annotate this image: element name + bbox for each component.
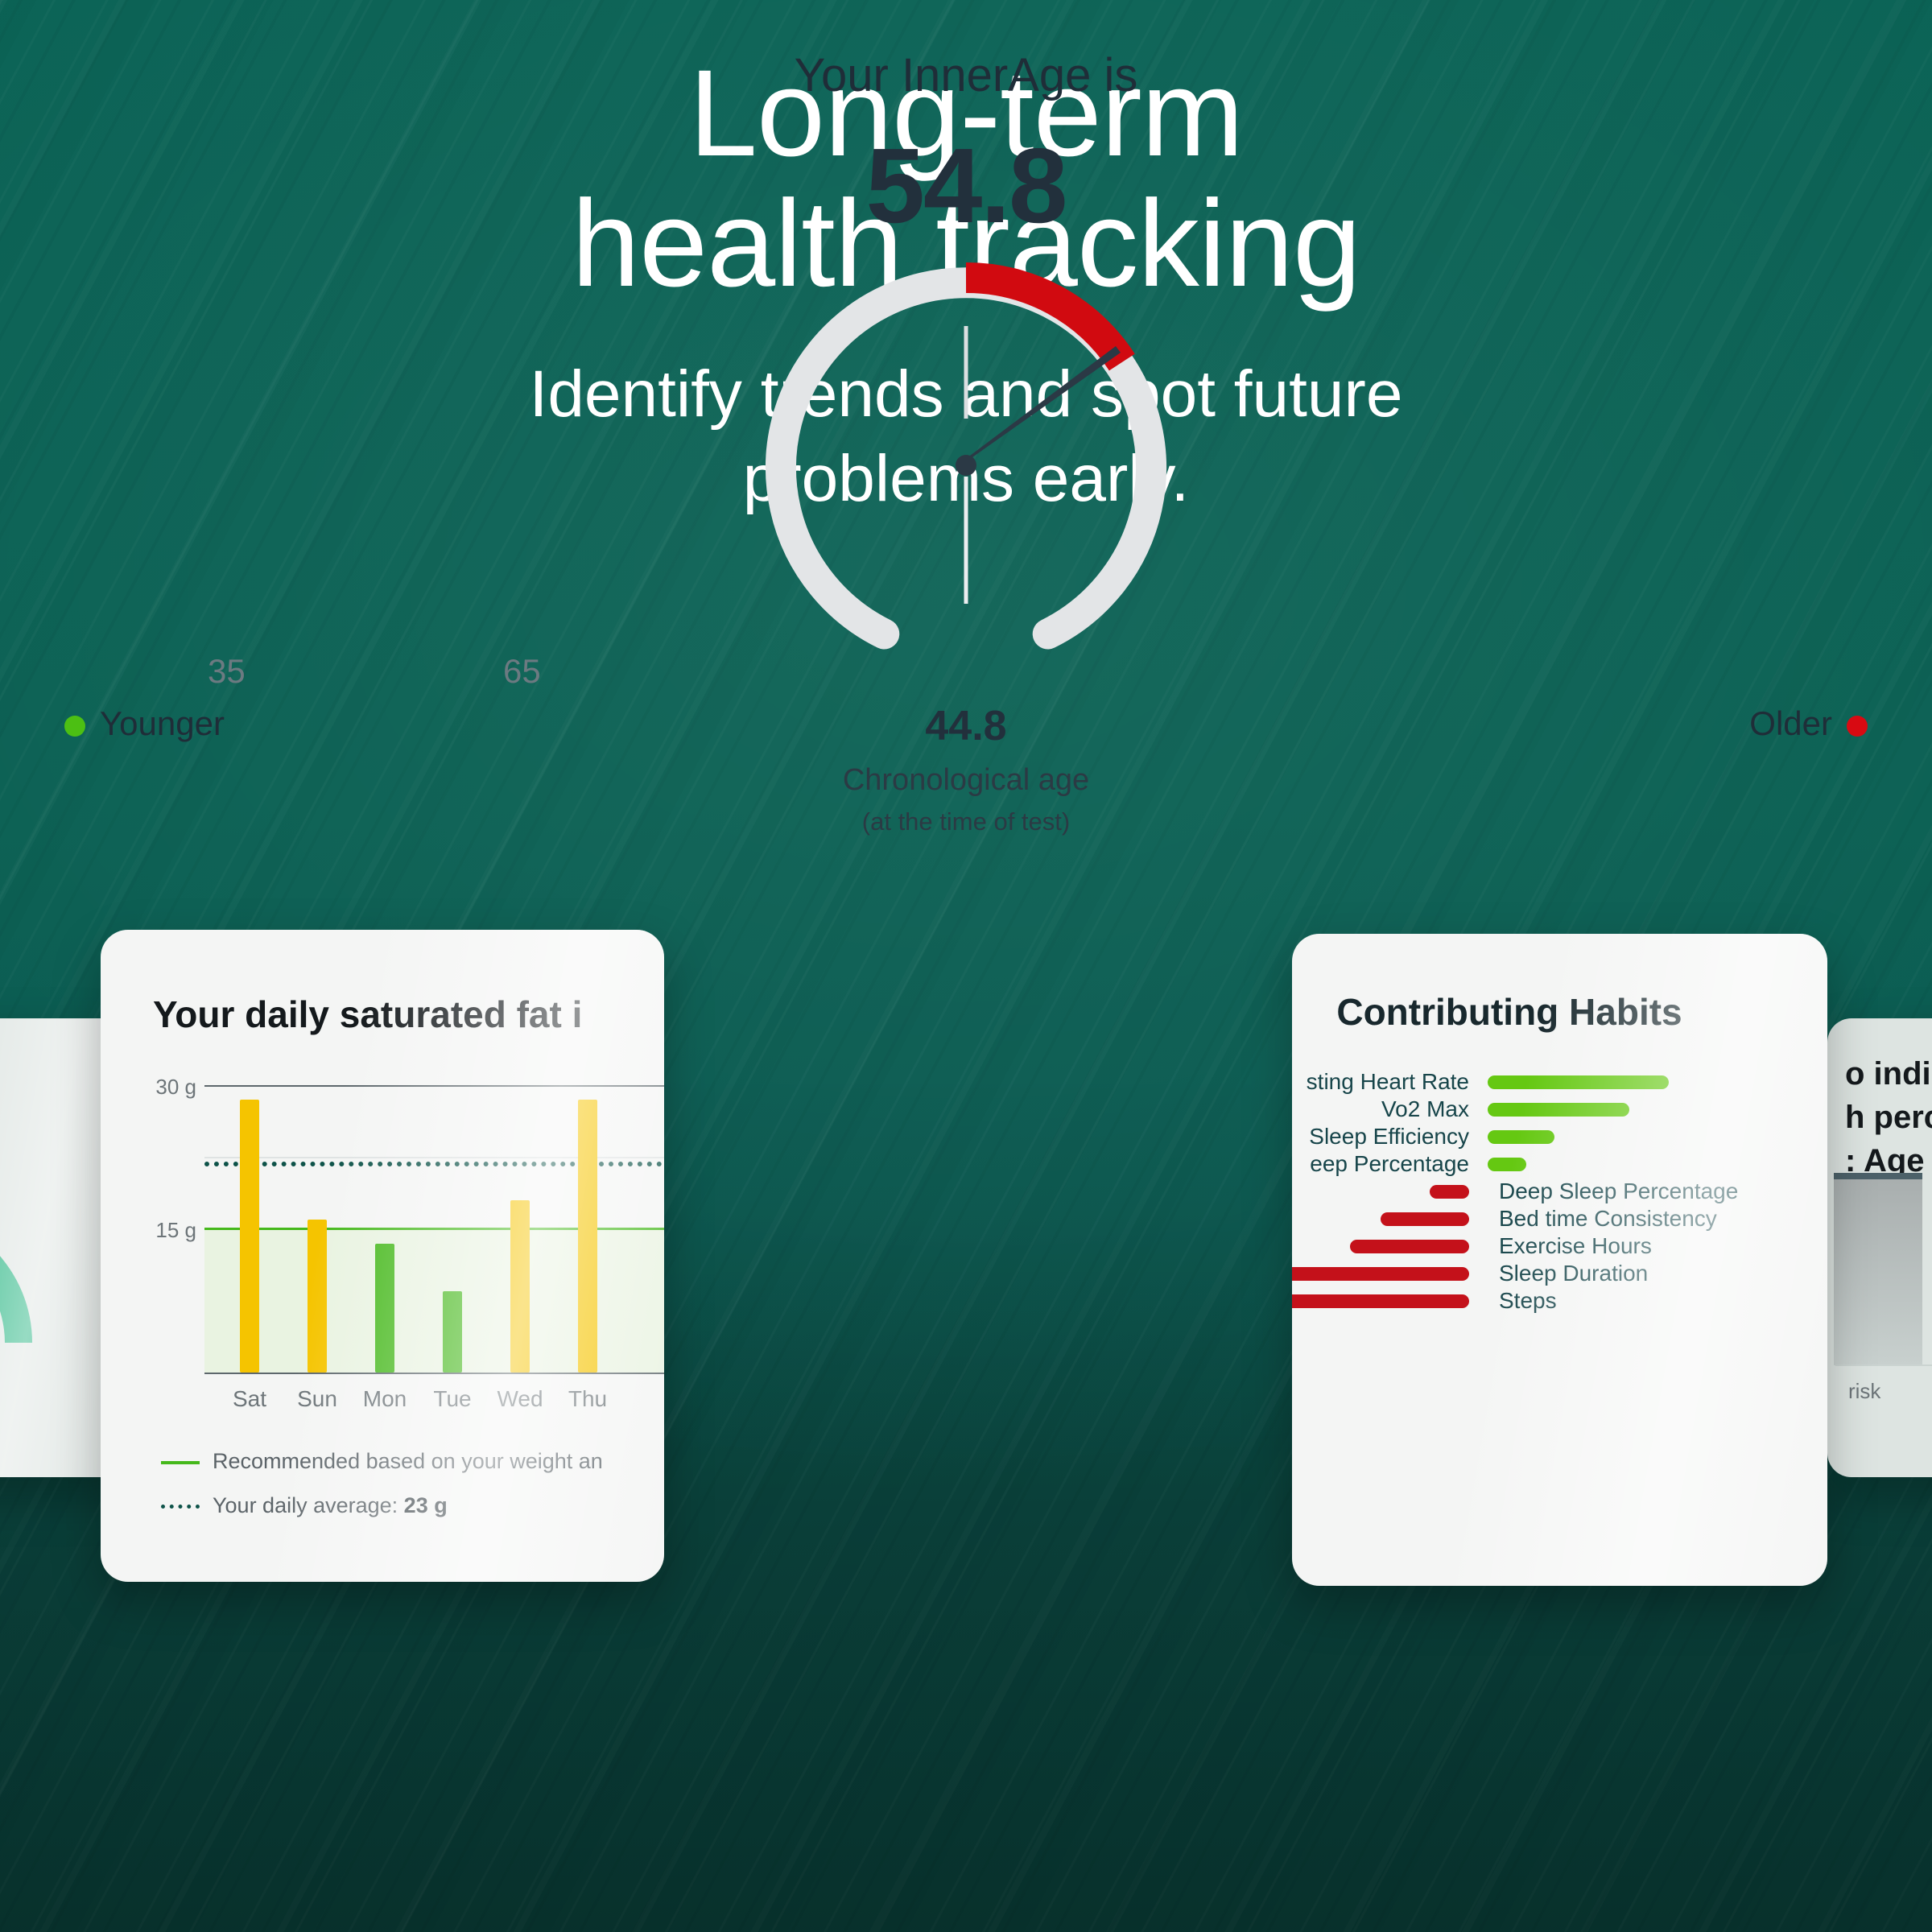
- innerage-heading: Your InnerAge is: [0, 48, 1932, 102]
- age-accel-text: o indicates h percent : Age Acce: [1845, 1052, 1932, 1183]
- habit-bar-bed-time-consistency: [1381, 1212, 1469, 1226]
- legend-average-value: 23 g: [404, 1493, 448, 1517]
- age-accel-line2: h percent: [1845, 1100, 1932, 1135]
- legend-average-prefix: Your daily average:: [213, 1493, 404, 1517]
- chronological-age-value: 44.8: [0, 702, 1932, 750]
- saturated-fat-chart: 30 g 15 g Sat Sun Mon Tue Wed Thu: [137, 1071, 664, 1385]
- healthspan-title: hspan H: [0, 1051, 109, 1097]
- gridline-30g: [204, 1085, 664, 1087]
- chronological-age-sublabel: (at the time of test): [0, 807, 1932, 836]
- habit-bar-vo2-max: [1488, 1103, 1629, 1117]
- bar-mon: [375, 1244, 394, 1373]
- habit-label-deep-sleep-percentage: Deep Sleep Percentage: [1499, 1179, 1738, 1204]
- legend-swatch-average: [161, 1505, 200, 1509]
- habit-row-steps[interactable]: Steps: [1292, 1291, 1827, 1331]
- gauge-min-label: 35: [208, 652, 246, 691]
- habit-bar-sleep-efficiency: [1488, 1130, 1554, 1144]
- bar-sun: [308, 1220, 327, 1373]
- habit-label-exercise-hours: Exercise Hours: [1499, 1233, 1652, 1259]
- x-tick-label-thu: Thu: [547, 1386, 628, 1412]
- bar-tue: [443, 1291, 462, 1373]
- gauge-needle: [960, 346, 1121, 471]
- gauge-red-arc: [966, 278, 1122, 362]
- legend-swatch-recommended: [161, 1461, 200, 1464]
- age-accel-line1: o indicates: [1845, 1056, 1932, 1092]
- legend-daily-average: Your daily average: 23 g: [161, 1493, 448, 1518]
- habit-label-rem-sleep-percentage: eep Percentage: [1292, 1151, 1469, 1177]
- habit-label-vo2-max: Vo2 Max: [1292, 1096, 1469, 1122]
- habit-label-resting-heart-rate: sting Heart Rate: [1292, 1069, 1469, 1095]
- axis-baseline: [204, 1373, 664, 1374]
- legend-recommended-label: Recommended based on your weight an: [213, 1449, 603, 1473]
- bar-wed: [510, 1200, 530, 1373]
- age-accel-axis-line: [1835, 1364, 1932, 1366]
- habit-bar-resting-heart-rate: [1488, 1075, 1669, 1089]
- bar-thu: [578, 1100, 597, 1373]
- chronological-age-label: Chronological age: [0, 763, 1932, 798]
- habit-bar-steps: [1292, 1294, 1469, 1308]
- card-contributing-habits[interactable]: Contributing Habits sting Heart Rate Vo2…: [1292, 934, 1827, 1586]
- habit-label-sleep-efficiency: Sleep Efficiency: [1292, 1124, 1469, 1150]
- habit-bar-rem-sleep-percentage: [1488, 1158, 1526, 1171]
- age-accel-axis-label: risk: [1848, 1379, 1880, 1404]
- habit-label-bed-time-consistency: Bed time Consistency: [1499, 1206, 1717, 1232]
- saturated-fat-title: Your daily saturated fat i: [153, 993, 582, 1036]
- habit-bar-exercise-hours: [1350, 1240, 1469, 1253]
- gauge-needle-hub: [956, 455, 976, 476]
- legend-recommended: Recommended based on your weight an: [161, 1449, 603, 1474]
- age-accel-bar-cap-1: [1834, 1173, 1922, 1179]
- innerage-gauge: [761, 258, 1171, 668]
- gauge-max-label: 65: [503, 652, 541, 691]
- age-accel-bar-1: [1834, 1176, 1922, 1365]
- habit-bar-sleep-duration: [1292, 1267, 1469, 1281]
- y-tick-label-15g: 15 g: [137, 1218, 196, 1243]
- card-saturated-fat[interactable]: Your daily saturated fat i 30 g 15 g Sat…: [101, 930, 664, 1582]
- card-age-acceleration-partial[interactable]: o indicates h percent : Age Acce risk: [1827, 1018, 1932, 1477]
- habit-label-sleep-duration: Sleep Duration: [1499, 1261, 1648, 1286]
- contributing-habits-title: Contributing Habits: [1292, 990, 1827, 1034]
- gauge-svg: [761, 258, 1171, 668]
- y-tick-label-30g: 30 g: [137, 1075, 196, 1100]
- habit-label-steps: Steps: [1499, 1288, 1557, 1314]
- habit-bar-deep-sleep-percentage: [1430, 1185, 1469, 1199]
- innerage-value: 54.8: [0, 125, 1932, 246]
- bar-sat: [240, 1100, 259, 1373]
- healthspan-subtitle: InsideTra: [0, 1115, 109, 1150]
